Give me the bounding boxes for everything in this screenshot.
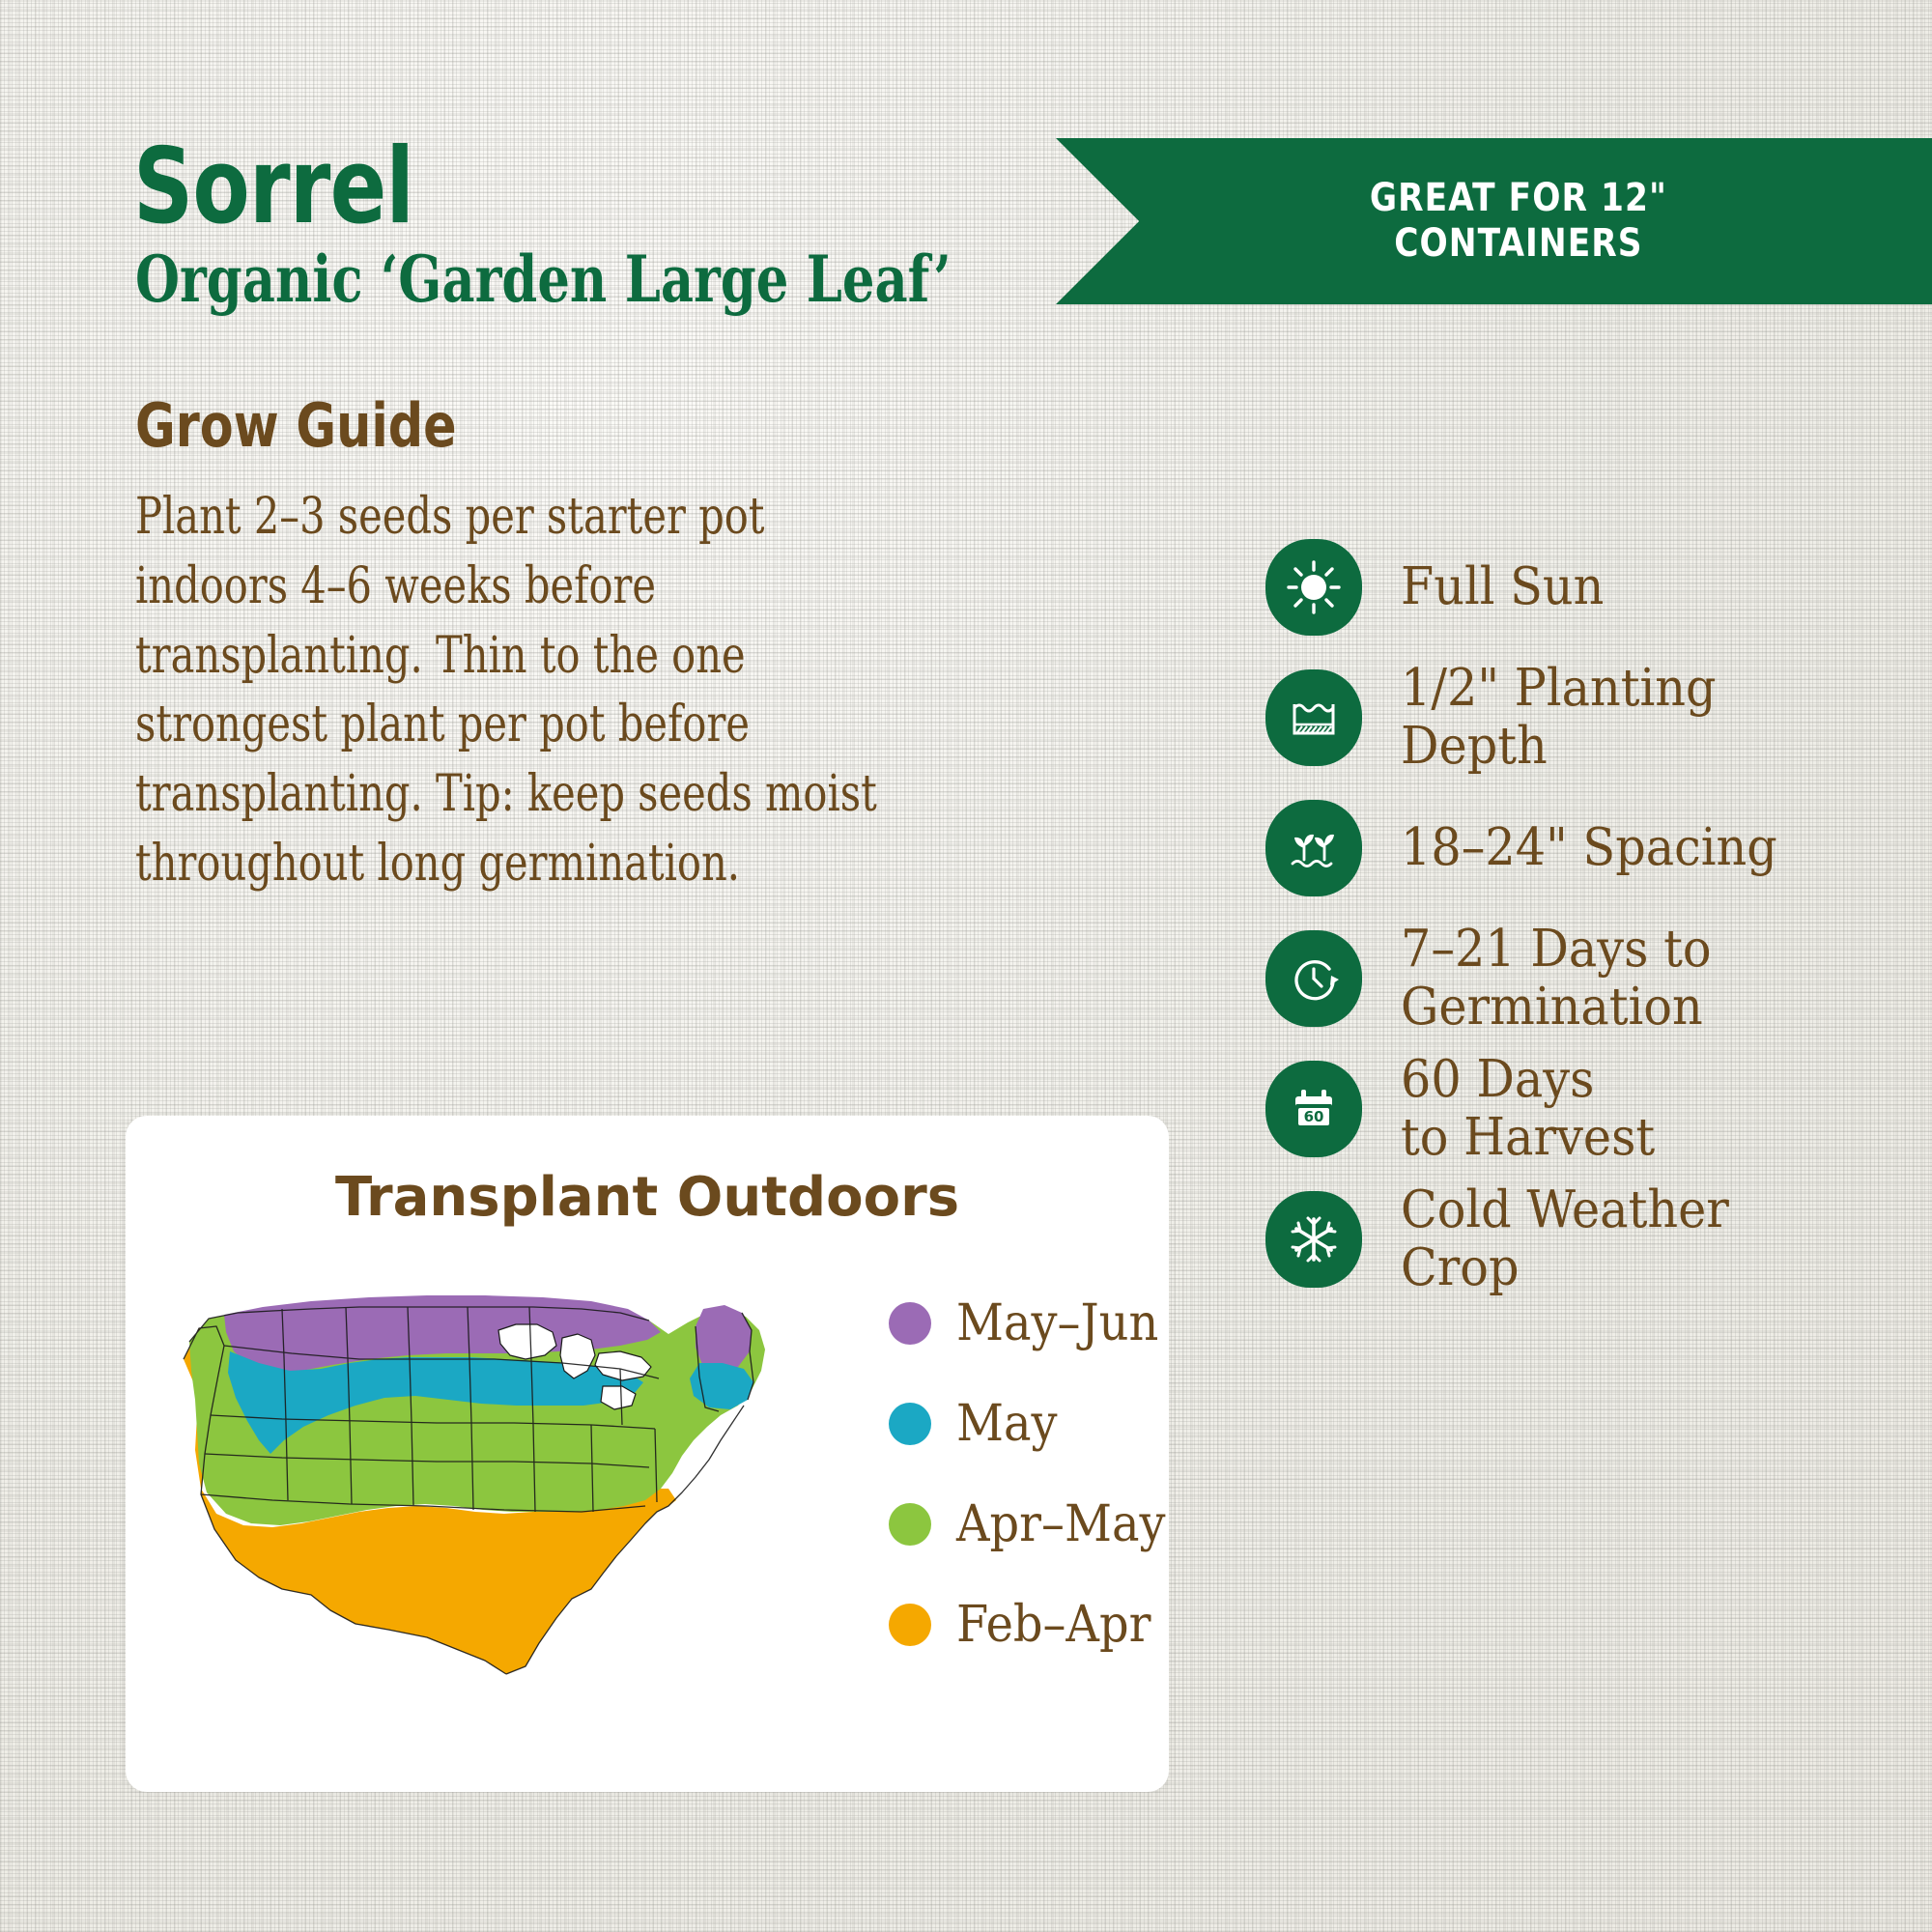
calendar-icon: 60	[1265, 1061, 1362, 1157]
clock-icon	[1265, 930, 1362, 1027]
fact-label: Cold Weather Crop	[1401, 1181, 1729, 1297]
grow-guide-body: Plant 2–3 seeds per starter pot indoors …	[135, 483, 923, 899]
fact-label: 60 Days to Harvest	[1401, 1051, 1655, 1167]
page-title: Sorrel	[133, 135, 413, 240]
list-item: 60 60 Days to Harvest	[1265, 1043, 1805, 1174]
fact-label: Full Sun	[1401, 558, 1604, 616]
transplant-map-title: Transplant Outdoors	[126, 1166, 1169, 1229]
spacing-seedlings-icon	[1265, 800, 1362, 896]
snowflake-icon	[1265, 1191, 1362, 1288]
legend-label: May	[956, 1395, 1058, 1453]
legend-dot-may-jun	[889, 1302, 931, 1345]
page-subtitle: Organic ‘Garden Large Leaf’	[135, 246, 952, 313]
transplant-map-card: Transplant Outdoors	[126, 1116, 1169, 1792]
legend-label: Feb–Apr	[956, 1596, 1151, 1654]
list-item: Cold Weather Crop	[1265, 1174, 1805, 1304]
legend-dot-feb-apr	[889, 1604, 931, 1646]
map-legend: May–Jun May Apr–May Feb–Apr	[889, 1294, 1183, 1654]
list-item: Full Sun	[1265, 522, 1805, 652]
legend-dot-may	[889, 1403, 931, 1445]
container-banner-label: GREAT FOR 12" CONTAINERS	[1321, 176, 1668, 267]
calendar-days-badge: 60	[1304, 1108, 1324, 1125]
list-item: 1/2" Planting Depth	[1265, 652, 1805, 782]
list-item: Feb–Apr	[889, 1596, 1183, 1654]
legend-label: May–Jun	[956, 1294, 1158, 1352]
list-item: Apr–May	[889, 1495, 1183, 1553]
fact-label: 18–24" Spacing	[1401, 819, 1777, 877]
list-item: May	[889, 1395, 1183, 1453]
fact-label: 7–21 Days to Germination	[1401, 921, 1712, 1037]
planting-depth-icon	[1265, 669, 1362, 766]
list-item: 18–24" Spacing	[1265, 782, 1805, 913]
container-banner: GREAT FOR 12" CONTAINERS	[1056, 138, 1932, 304]
legend-dot-apr-may	[889, 1503, 931, 1546]
grow-guide-heading: Grow Guide	[135, 396, 457, 456]
list-item: May–Jun	[889, 1294, 1183, 1352]
packet-background: Sorrel Organic ‘Garden Large Leaf’ GREAT…	[0, 0, 1932, 1932]
usa-planting-zone-map	[166, 1270, 804, 1686]
sun-icon	[1265, 539, 1362, 636]
growing-facts-list: Full Sun 1/2" Planting Depth	[1265, 522, 1805, 1304]
list-item: 7–21 Days to Germination	[1265, 913, 1805, 1043]
fact-label: 1/2" Planting Depth	[1401, 660, 1717, 776]
legend-label: Apr–May	[956, 1495, 1166, 1553]
